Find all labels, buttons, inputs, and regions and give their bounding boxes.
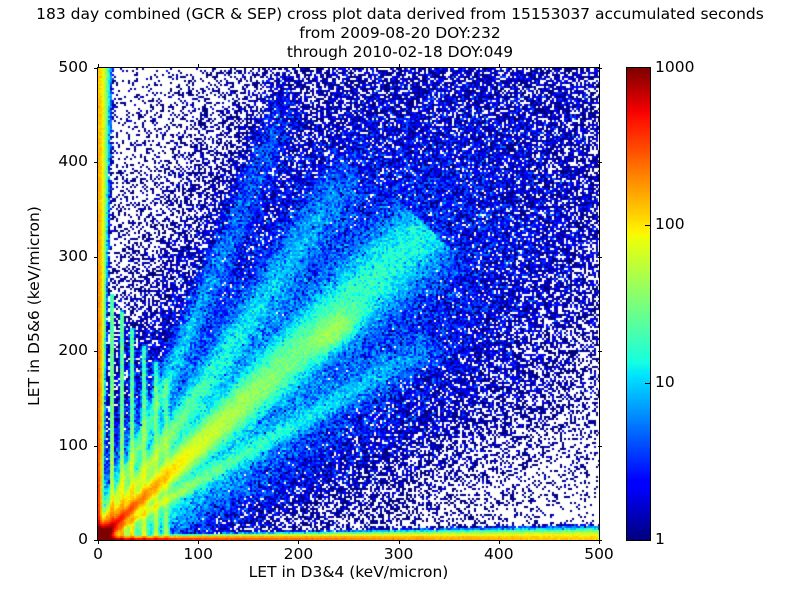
y-tick-mark-right (598, 162, 602, 163)
y-tick-mark (94, 540, 98, 541)
colorbar-tick-label: 100 (655, 215, 685, 233)
plot-area[interactable] (97, 67, 600, 541)
x-tick-label: 500 (569, 545, 629, 563)
colorbar-tick-mark (645, 383, 650, 384)
y-tick-mark (94, 162, 98, 163)
x-tick-mark (198, 540, 199, 544)
x-tick-label: 200 (268, 545, 328, 563)
title-line-2: from 2009-08-20 DOY:232 (0, 24, 800, 43)
x-tick-mark (399, 540, 400, 544)
y-tick-mark (94, 446, 98, 447)
x-tick-label: 400 (469, 545, 529, 563)
y-tick-mark-right (598, 68, 602, 69)
x-axis-label: LET in D3&4 (keV/micron) (97, 563, 600, 581)
x-tick-mark-top (399, 64, 400, 68)
x-tick-label: 300 (369, 545, 429, 563)
chart-title: 183 day combined (GCR & SEP) cross plot … (0, 5, 800, 62)
figure: 183 day combined (GCR & SEP) cross plot … (0, 0, 800, 600)
y-tick-mark-right (598, 540, 602, 541)
y-tick-mark-right (598, 257, 602, 258)
x-tick-mark (98, 540, 99, 544)
density-heatmap (98, 68, 599, 540)
y-tick-mark (94, 68, 98, 69)
x-tick-mark (499, 540, 500, 544)
y-axis-label: LET in D5&6 (keV/micron) (25, 69, 43, 543)
colorbar-tick-label: 10 (655, 373, 675, 391)
x-tick-mark-top (98, 64, 99, 68)
x-tick-label: 100 (168, 545, 228, 563)
y-tick-mark-right (598, 446, 602, 447)
colorbar-tick-label: 1000 (655, 58, 694, 76)
title-line-1: 183 day combined (GCR & SEP) cross plot … (0, 5, 800, 24)
colorbar-tick-mark (645, 225, 650, 226)
x-tick-mark-top (499, 64, 500, 68)
x-tick-mark-top (198, 64, 199, 68)
y-tick-mark-right (598, 351, 602, 352)
y-tick-mark (94, 351, 98, 352)
colorbar-gradient (627, 68, 650, 540)
x-tick-mark (298, 540, 299, 544)
x-tick-mark-top (298, 64, 299, 68)
y-tick-mark (94, 257, 98, 258)
colorbar[interactable] (626, 67, 651, 541)
colorbar-tick-label: 1 (655, 530, 665, 548)
